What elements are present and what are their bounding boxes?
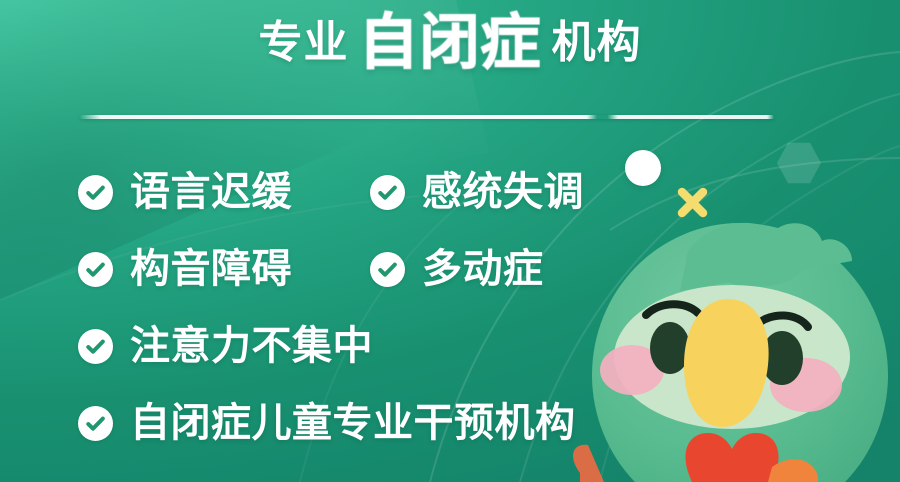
title-highlight: 自闭症 [359, 13, 542, 73]
check-circle-icon [78, 252, 113, 287]
title-prefix: 专业 [259, 21, 349, 65]
feature-label: 构音障碍 [130, 249, 292, 289]
feature-label: 多动症 [422, 249, 544, 289]
feature-item-yuyanchihuan[interactable]: 语言迟缓 [78, 172, 292, 212]
feature-item-zhuyilibujizhong[interactable]: 注意力不集中 [78, 326, 373, 366]
feature-item-gantongshitiao[interactable]: 感统失调 [370, 172, 584, 212]
check-circle-icon [370, 175, 405, 210]
faint-hexagon-dot-icon [777, 141, 821, 185]
title-suffix: 机构 [552, 21, 642, 65]
white-circle-dot-icon [625, 150, 661, 186]
check-circle-icon [370, 252, 405, 287]
check-circle-icon [78, 175, 113, 210]
feature-label: 自闭症儿童专业干预机构 [130, 403, 576, 443]
poster-title: 专业 自闭症 机构 [0, 6, 900, 80]
feature-item-gouyinzhangai[interactable]: 构音障碍 [78, 249, 292, 289]
feature-label: 语言迟缓 [130, 172, 292, 212]
feature-row-1: 语言迟缓 感统失调 [0, 172, 620, 249]
poster-banner: 专业 自闭症 机构 [0, 0, 900, 482]
check-circle-icon [78, 406, 113, 441]
check-circle-icon [78, 329, 113, 364]
feature-item-duodongzheng[interactable]: 多动症 [370, 249, 544, 289]
feature-label: 感统失调 [422, 172, 584, 212]
feature-row-4: 自闭症儿童专业干预机构 [0, 403, 620, 480]
feature-label: 注意力不集中 [130, 326, 373, 366]
feature-list: 语言迟缓 感统失调 构音障碍 多动症 [0, 172, 620, 480]
feature-row-2: 构音障碍 多动症 [0, 249, 620, 326]
feature-item-zibizhengertongganyu[interactable]: 自闭症儿童专业干预机构 [78, 403, 576, 443]
feature-row-3: 注意力不集中 [0, 326, 620, 403]
title-divider [80, 115, 774, 119]
